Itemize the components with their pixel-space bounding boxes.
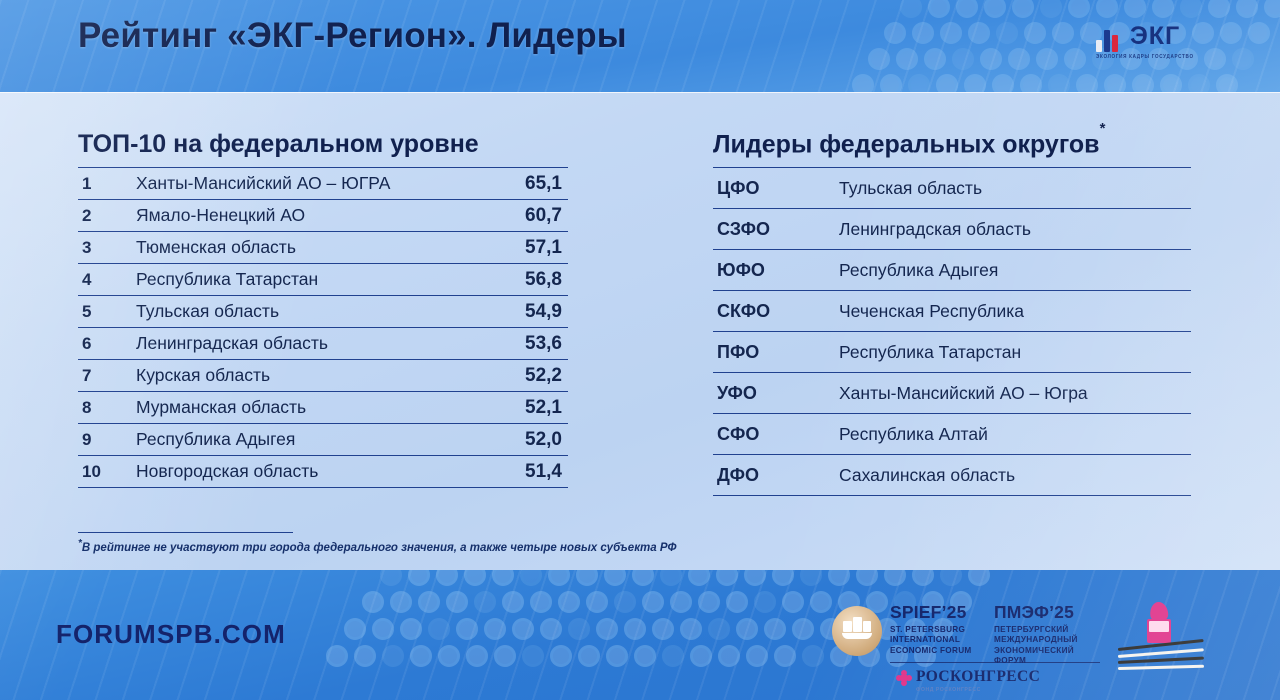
victory-anniversary-emblem — [1118, 600, 1204, 678]
top10-table: 1Ханты-Мансийский АО – ЮГРА65,12Ямало-Не… — [78, 167, 568, 488]
table-row: 6Ленинградская область53,6 — [78, 328, 568, 360]
rank-cell: 4 — [78, 264, 128, 296]
header-dot-pattern — [880, 0, 1280, 92]
table-row: СКФОЧеченская Республика — [713, 291, 1191, 332]
table-row: СЗФОЛенинградская область — [713, 209, 1191, 250]
spief-logo: SPIEF’25 ST. PETERSBURG INTERNATIONAL EC… — [832, 600, 1102, 690]
okrug-cell: УФО — [713, 373, 829, 414]
region-cell: Ханты-Мансийский АО – Югра — [829, 373, 1191, 414]
score-cell: 51,4 — [490, 456, 568, 488]
roscongress-flower-icon — [896, 670, 911, 685]
spief-subtitle-ru: ПЕТЕРБУРГСКИЙ МЕЖДУНАРОДНЫЙ ЭКОНОМИЧЕСКИ… — [994, 625, 1100, 667]
table-row: УФОХанты-Мансийский АО – Югра — [713, 373, 1191, 414]
region-cell: Мурманская область — [128, 392, 490, 424]
dot-row — [380, 570, 990, 586]
roscongress-name: РОСКОНГРЕСС — [916, 668, 1106, 686]
bar-chart-icon — [1096, 28, 1126, 52]
region-cell: Ямало-Ненецкий АО — [128, 200, 490, 232]
table-row: 10Новгородская область51,4 — [78, 456, 568, 488]
spief-russian-block: ПМЭФ’25 ПЕТЕРБУРГСКИЙ МЕЖДУНАРОДНЫЙ ЭКОН… — [994, 602, 1100, 667]
spief-ship-emblem-icon — [832, 606, 882, 656]
roscongress-logo: РОСКОНГРЕСС ФОНД РОСКОНГРЕСС — [896, 668, 1106, 693]
okrug-cell: ЦФО — [713, 168, 829, 209]
top10-panel: ТОП-10 на федеральном уровне 1Ханты-Манс… — [78, 130, 568, 488]
table-row: 4Республика Татарстан56,8 — [78, 264, 568, 296]
table-row: 2Ямало-Ненецкий АО60,7 — [78, 200, 568, 232]
spief-subtitle-en: ST. PETERSBURG INTERNATIONAL ECONOMIC FO… — [890, 625, 992, 656]
region-cell: Новгородская область — [128, 456, 490, 488]
footnote: *В рейтинге не участвуют три города феде… — [78, 532, 778, 554]
table-row: 5Тульская область54,9 — [78, 296, 568, 328]
region-cell: Республика Адыгея — [128, 424, 490, 456]
okrug-cell: СФО — [713, 414, 829, 455]
region-cell: Республика Адыгея — [829, 250, 1191, 291]
score-cell: 52,2 — [490, 360, 568, 392]
okrug-title-footnote-marker: * — [1100, 120, 1106, 137]
presentation-slide: Рейтинг «ЭКГ-Регион». Лидеры ЭКГ ЭКОЛОГИ… — [0, 0, 1280, 700]
okrug-cell: ДФО — [713, 455, 829, 496]
okrug-leaders-panel: Лидеры федеральных округов* ЦФОТульская … — [713, 130, 1191, 496]
spief-title-ru: ПМЭФ’25 — [994, 602, 1100, 623]
spief-divider — [890, 662, 1100, 663]
rank-cell: 9 — [78, 424, 128, 456]
table-row: ЦФОТульская область — [713, 168, 1191, 209]
okrug-leaders-title-text: Лидеры федеральных округов — [713, 130, 1100, 158]
table-row: 8Мурманская область52,1 — [78, 392, 568, 424]
region-cell: Сахалинская область — [829, 455, 1191, 496]
score-cell: 53,6 — [490, 328, 568, 360]
region-cell: Ханты-Мансийский АО – ЮГРА — [128, 168, 490, 200]
okrug-cell: СКФО — [713, 291, 829, 332]
region-cell: Тульская область — [829, 168, 1191, 209]
torch-icon — [1142, 602, 1176, 648]
rank-cell: 7 — [78, 360, 128, 392]
content-card: ТОП-10 на федеральном уровне 1Ханты-Манс… — [0, 92, 1280, 570]
ekg-logo-tagline: ЭКОЛОГИЯ КАДРЫ ГОСУДАРСТВО — [1096, 53, 1216, 59]
dot-row — [852, 74, 1238, 92]
okrug-leaders-table: ЦФОТульская областьСЗФОЛенинградская обл… — [713, 167, 1191, 496]
table-row: 7Курская область52,2 — [78, 360, 568, 392]
footnote-rule — [78, 532, 293, 533]
region-cell: Ленинградская область — [128, 328, 490, 360]
okrug-cell: ПФО — [713, 332, 829, 373]
region-cell: Чеченская Республика — [829, 291, 1191, 332]
table-row: ДФОСахалинская область — [713, 455, 1191, 496]
rank-cell: 2 — [78, 200, 128, 232]
score-cell: 60,7 — [490, 200, 568, 232]
rank-cell: 5 — [78, 296, 128, 328]
score-cell: 54,9 — [490, 296, 568, 328]
score-cell: 52,0 — [490, 424, 568, 456]
slide-header: Рейтинг «ЭКГ-Регион». Лидеры ЭКГ ЭКОЛОГИ… — [0, 0, 1280, 92]
rank-cell: 10 — [78, 456, 128, 488]
region-cell: Курская область — [128, 360, 490, 392]
roscongress-tagline: ФОНД РОСКОНГРЕСС — [916, 687, 1106, 693]
st-george-ribbon-icon — [1118, 644, 1204, 674]
top10-title: ТОП-10 на федеральном уровне — [78, 130, 568, 159]
table-row: СФОРеспублика Алтай — [713, 414, 1191, 455]
region-cell: Республика Татарстан — [829, 332, 1191, 373]
table-row: 9Республика Адыгея52,0 — [78, 424, 568, 456]
score-cell: 52,1 — [490, 392, 568, 424]
table-row: ЮФОРеспублика Адыгея — [713, 250, 1191, 291]
score-cell: 65,1 — [490, 168, 568, 200]
okrug-cell: ЮФО — [713, 250, 829, 291]
spief-title-en: SPIEF’25 — [890, 602, 992, 623]
score-cell: 56,8 — [490, 264, 568, 296]
spief-english-block: SPIEF’25 ST. PETERSBURG INTERNATIONAL EC… — [890, 602, 992, 656]
footnote-text: В рейтинге не участвуют три города федер… — [82, 542, 677, 554]
region-cell: Тульская область — [128, 296, 490, 328]
table-row: ПФОРеспублика Татарстан — [713, 332, 1191, 373]
region-cell: Республика Татарстан — [128, 264, 490, 296]
region-cell: Республика Алтай — [829, 414, 1191, 455]
rank-cell: 8 — [78, 392, 128, 424]
table-row: 3Тюменская область57,1 — [78, 232, 568, 264]
region-cell: Ленинградская область — [829, 209, 1191, 250]
okrug-cell: СЗФО — [713, 209, 829, 250]
table-row: 1Ханты-Мансийский АО – ЮГРА65,1 — [78, 168, 568, 200]
region-cell: Тюменская область — [128, 232, 490, 264]
okrug-leaders-title: Лидеры федеральных округов* — [713, 130, 1191, 159]
ekg-logo-wordmark: ЭКГ — [1130, 22, 1180, 51]
rank-cell: 6 — [78, 328, 128, 360]
dot-row — [900, 0, 1280, 18]
rank-cell: 3 — [78, 232, 128, 264]
rank-cell: 1 — [78, 168, 128, 200]
score-cell: 57,1 — [490, 232, 568, 264]
ship-icon — [841, 617, 873, 645]
page-title: Рейтинг «ЭКГ-Регион». Лидеры — [78, 16, 627, 56]
forum-website-url: FORUMSPB.COM — [56, 619, 286, 650]
ekg-logo: ЭКГ ЭКОЛОГИЯ КАДРЫ ГОСУДАРСТВО — [1096, 22, 1216, 66]
